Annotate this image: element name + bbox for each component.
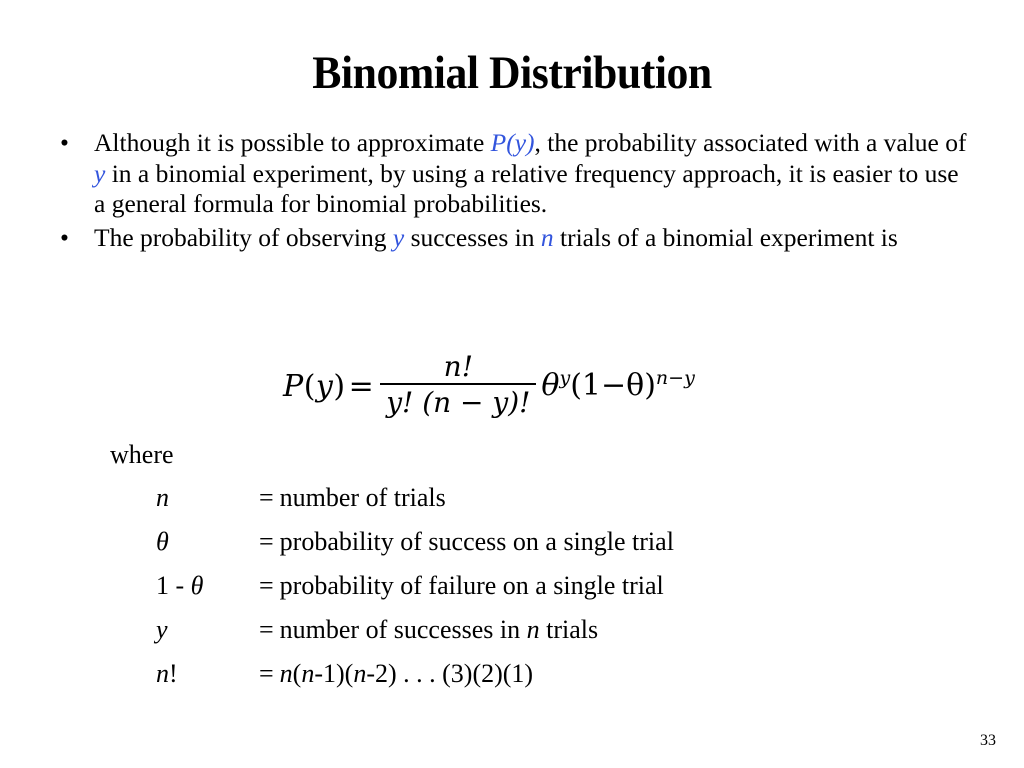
where-label: where: [110, 440, 174, 470]
definition-text-seg-0: number of successes in: [280, 615, 527, 644]
bullet-2-seg-1: y: [393, 223, 404, 252]
bullet-1-seg-3: y: [94, 159, 105, 188]
bullet-1-seg-4: in a binomial experiment, by using a rel…: [94, 159, 959, 219]
formula-paren-close: ): [333, 369, 345, 404]
formula-theta-terms: θy(1−θ)n−y: [539, 368, 694, 403]
formula-paren-open: (: [304, 369, 316, 404]
formula-theta-base: θ: [541, 368, 559, 403]
definition-row-n: n =number of trials: [156, 483, 674, 527]
formula-denominator: y! (n − y)!: [380, 385, 536, 418]
definition-symbol: y: [156, 615, 259, 645]
binomial-probability-formula: P(y) = n! y! (n − y)! θy(1−θ)n−y: [283, 352, 695, 419]
definition-row-theta: θ =probability of success on a single tr…: [156, 527, 674, 571]
definition-description: =probability of failure on a single tria…: [259, 571, 664, 601]
formula-lhs: P(y): [283, 369, 349, 404]
bullet-icon: •: [60, 223, 69, 254]
bullet-1-seg-0: Although it is possible to approximate: [94, 128, 491, 157]
formula-p-symbol: P: [283, 369, 304, 404]
bullet-1-seg-2: , the probability associated with a valu…: [535, 128, 967, 157]
definition-text-seg-1: n: [527, 615, 540, 644]
definition-description: =number of successes in n trials: [259, 615, 598, 645]
bullet-text-1: Although it is possible to approximate P…: [94, 128, 970, 220]
bullet-2-seg-3: n: [541, 223, 554, 252]
list-item: • The probability of observing y success…: [50, 223, 970, 254]
bullet-2-seg-2: successes in: [404, 223, 541, 252]
bullet-2-seg-0: The probability of observing: [94, 223, 393, 252]
slide-canvas: Binomial Distribution • Although it is p…: [0, 0, 1024, 768]
formula-y-symbol: y: [316, 369, 333, 404]
definition-description: =n(n-1)(n-2) . . . (3)(2)(1): [259, 659, 533, 689]
definition-equals: =: [259, 659, 280, 688]
bullet-1-seg-1: P(y): [491, 128, 535, 157]
bullet-icon: •: [60, 128, 69, 159]
definition-symbol-prefix: 1 -: [156, 571, 191, 600]
formula-fraction: n! y! (n − y)!: [380, 352, 536, 419]
definition-text: probability of failure on a single trial: [280, 571, 664, 600]
definition-text-seg-0: n: [280, 659, 293, 688]
definition-equals: =: [259, 615, 280, 644]
formula-theta-exponent: y: [559, 367, 570, 389]
definition-text-seg-5: -2) . . . (3)(2)(1): [366, 659, 533, 688]
formula-numerator: n!: [438, 352, 479, 383]
definition-symbol: n!: [156, 659, 259, 689]
bullet-2-seg-4: trials of a binomial experiment is: [554, 223, 898, 252]
bullet-text-2: The probability of observing y successes…: [94, 223, 970, 254]
definition-symbol-suffix: !: [169, 659, 178, 688]
definition-symbol: θ: [156, 527, 259, 557]
bullet-list: • Although it is possible to approximate…: [50, 128, 970, 253]
definition-text: number of trials: [280, 483, 446, 512]
list-item: • Although it is possible to approximate…: [50, 128, 970, 220]
page-title: Binomial Distribution: [36, 49, 988, 98]
definition-list: n =number of trials θ =probability of su…: [156, 483, 674, 703]
definition-row-one-minus-theta: 1 - θ =probability of failure on a singl…: [156, 571, 674, 615]
definition-row-y: y =number of successes in n trials: [156, 615, 674, 659]
definition-symbol: 1 - θ: [156, 571, 259, 601]
definition-symbol-suffix: θ: [191, 571, 204, 600]
definition-description: =number of trials: [259, 483, 446, 513]
definition-symbol: n: [156, 483, 259, 513]
formula-factor: (1−θ): [570, 368, 656, 403]
definition-text-seg-4: n: [353, 659, 366, 688]
definition-equals: =: [259, 571, 280, 600]
definition-row-n-factorial: n! =n(n-1)(n-2) . . . (3)(2)(1): [156, 659, 674, 703]
formula-equals: =: [349, 369, 378, 404]
definition-symbol-prefix: n: [156, 659, 169, 688]
definition-text-seg-3: -1)(: [314, 659, 353, 688]
definition-text-seg-2: trials: [540, 615, 599, 644]
definition-equals: =: [259, 483, 280, 512]
definition-description: =probability of success on a single tria…: [259, 527, 674, 557]
formula-factor-exponent: n−y: [656, 367, 695, 389]
page-number: 33: [980, 732, 996, 750]
definition-equals: =: [259, 527, 280, 556]
definition-text-seg-2: n: [301, 659, 314, 688]
definition-text: probability of success on a single trial: [280, 527, 674, 556]
